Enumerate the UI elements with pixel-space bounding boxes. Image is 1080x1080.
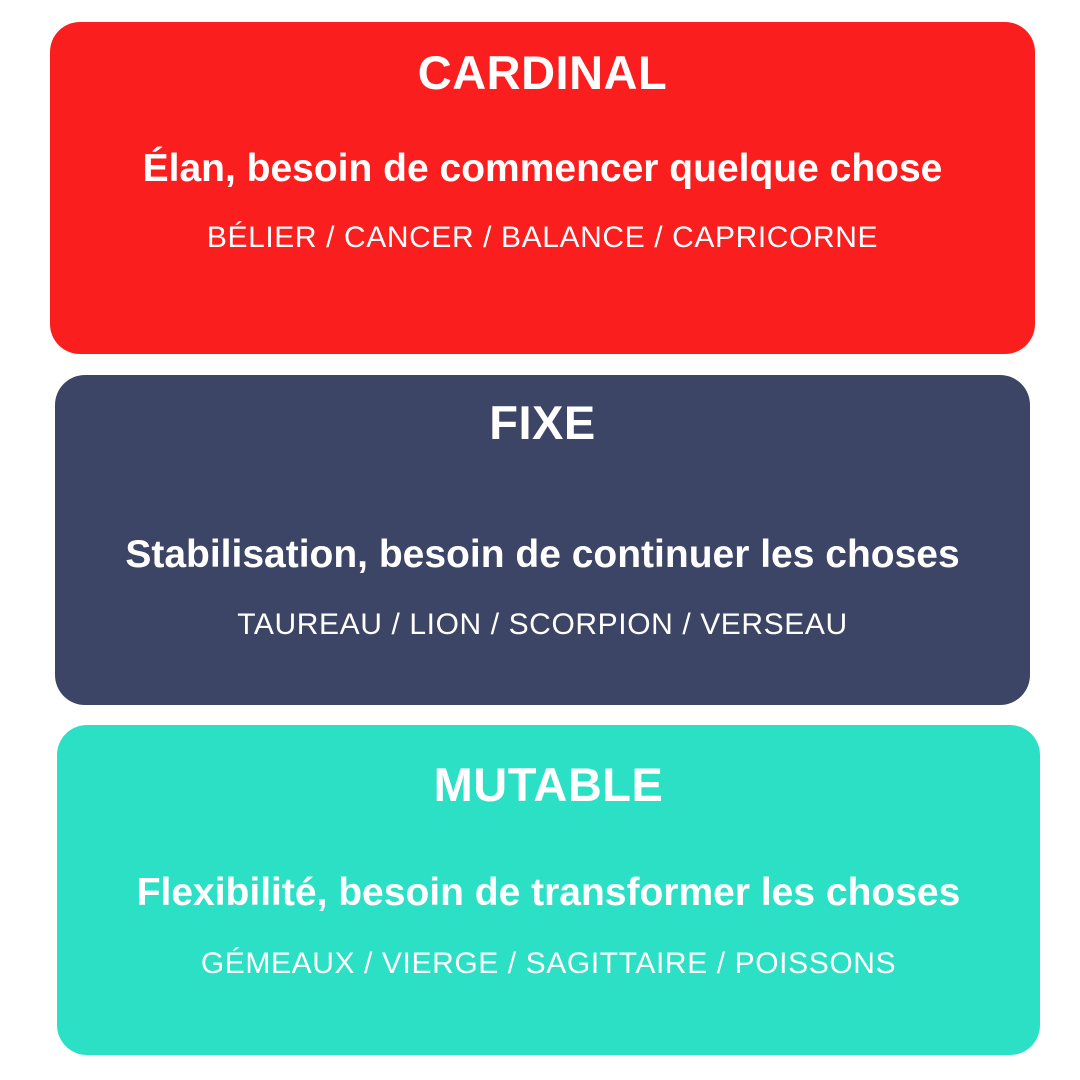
card-signs-mutable: GÉMEAUX / VIERGE / SAGITTAIRE / POISSONS [201,947,896,980]
card-description-cardinal: Élan, besoin de commencer quelque chose [143,148,943,191]
card-description-fixe: Stabilisation, besoin de continuer les c… [125,534,959,577]
card-title-mutable: MUTABLE [434,761,664,808]
modality-card-cardinal: CARDINAL Élan, besoin de commencer quelq… [50,22,1035,354]
modality-card-mutable: MUTABLE Flexibilité, besoin de transform… [57,725,1040,1055]
card-signs-fixe: TAUREAU / LION / SCORPION / VERSEAU [237,608,848,641]
modalities-board: CARDINAL Élan, besoin de commencer quelq… [0,0,1080,1080]
card-title-cardinal: CARDINAL [418,49,667,96]
card-title-fixe: FIXE [489,399,595,446]
modality-card-fixe: FIXE Stabilisation, besoin de continuer … [55,375,1030,705]
card-description-mutable: Flexibilité, besoin de transformer les c… [137,872,961,915]
card-signs-cardinal: BÉLIER / CANCER / BALANCE / CAPRICORNE [207,221,878,254]
